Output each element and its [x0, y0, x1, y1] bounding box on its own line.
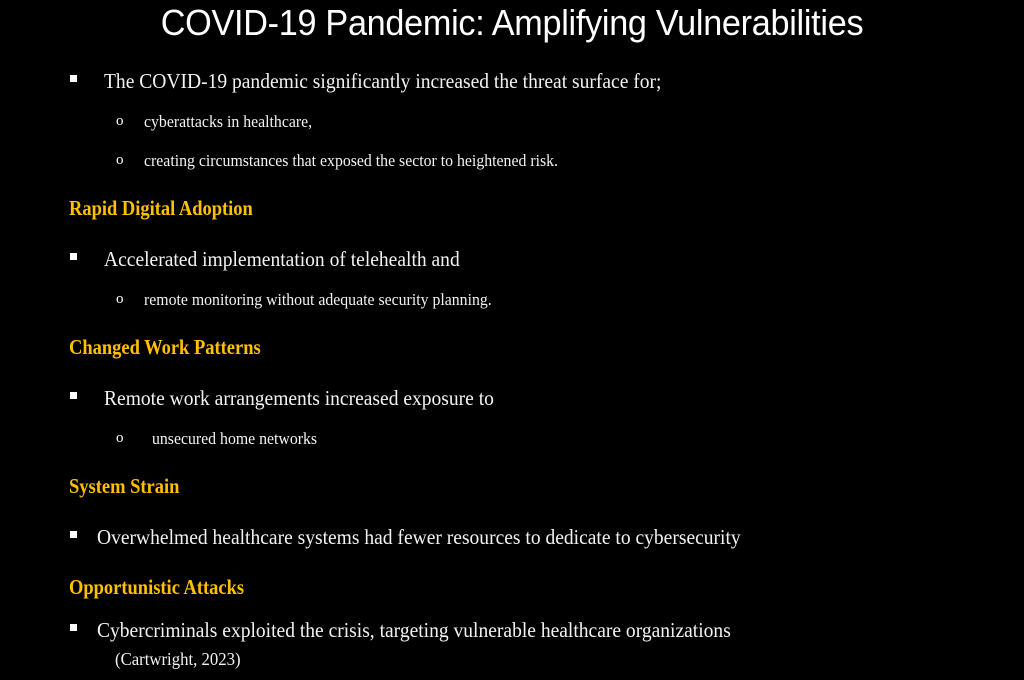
square-bullet-icon [70, 531, 77, 538]
list-item: Cybercriminals exploited the crisis, tar… [97, 617, 731, 643]
square-bullet-icon [70, 75, 77, 82]
section-heading-system-strain: System Strain [69, 474, 179, 499]
section-heading-opportunistic-attacks: Opportunistic Attacks [69, 575, 244, 600]
section-heading-rapid-digital-adoption: Rapid Digital Adoption [69, 196, 253, 221]
square-bullet-icon [70, 624, 77, 631]
circle-bullet-icon: o [116, 292, 124, 307]
list-item: Overwhelmed healthcare systems had fewer… [97, 524, 741, 550]
slide-canvas: COVID-19 Pandemic: Amplifying Vulnerabil… [0, 0, 1024, 680]
circle-bullet-icon: o [116, 114, 124, 129]
list-item: The COVID-19 pandemic significantly incr… [104, 68, 661, 94]
list-item: creating circumstances that exposed the … [144, 150, 558, 171]
list-item: remote monitoring without adequate secur… [144, 289, 492, 310]
circle-bullet-icon: o [116, 153, 124, 168]
list-item: cyberattacks in healthcare, [144, 111, 312, 132]
square-bullet-icon [70, 253, 77, 260]
list-item: Accelerated implementation of telehealth… [104, 246, 460, 272]
citation-reference: (Cartwright, 2023) [115, 648, 241, 670]
square-bullet-icon [70, 392, 77, 399]
list-item: Remote work arrangements increased expos… [104, 385, 494, 411]
section-heading-changed-work-patterns: Changed Work Patterns [69, 335, 261, 360]
list-item: unsecured home networks [152, 428, 317, 449]
circle-bullet-icon: o [116, 431, 124, 446]
page-title: COVID-19 Pandemic: Amplifying Vulnerabil… [26, 2, 999, 44]
